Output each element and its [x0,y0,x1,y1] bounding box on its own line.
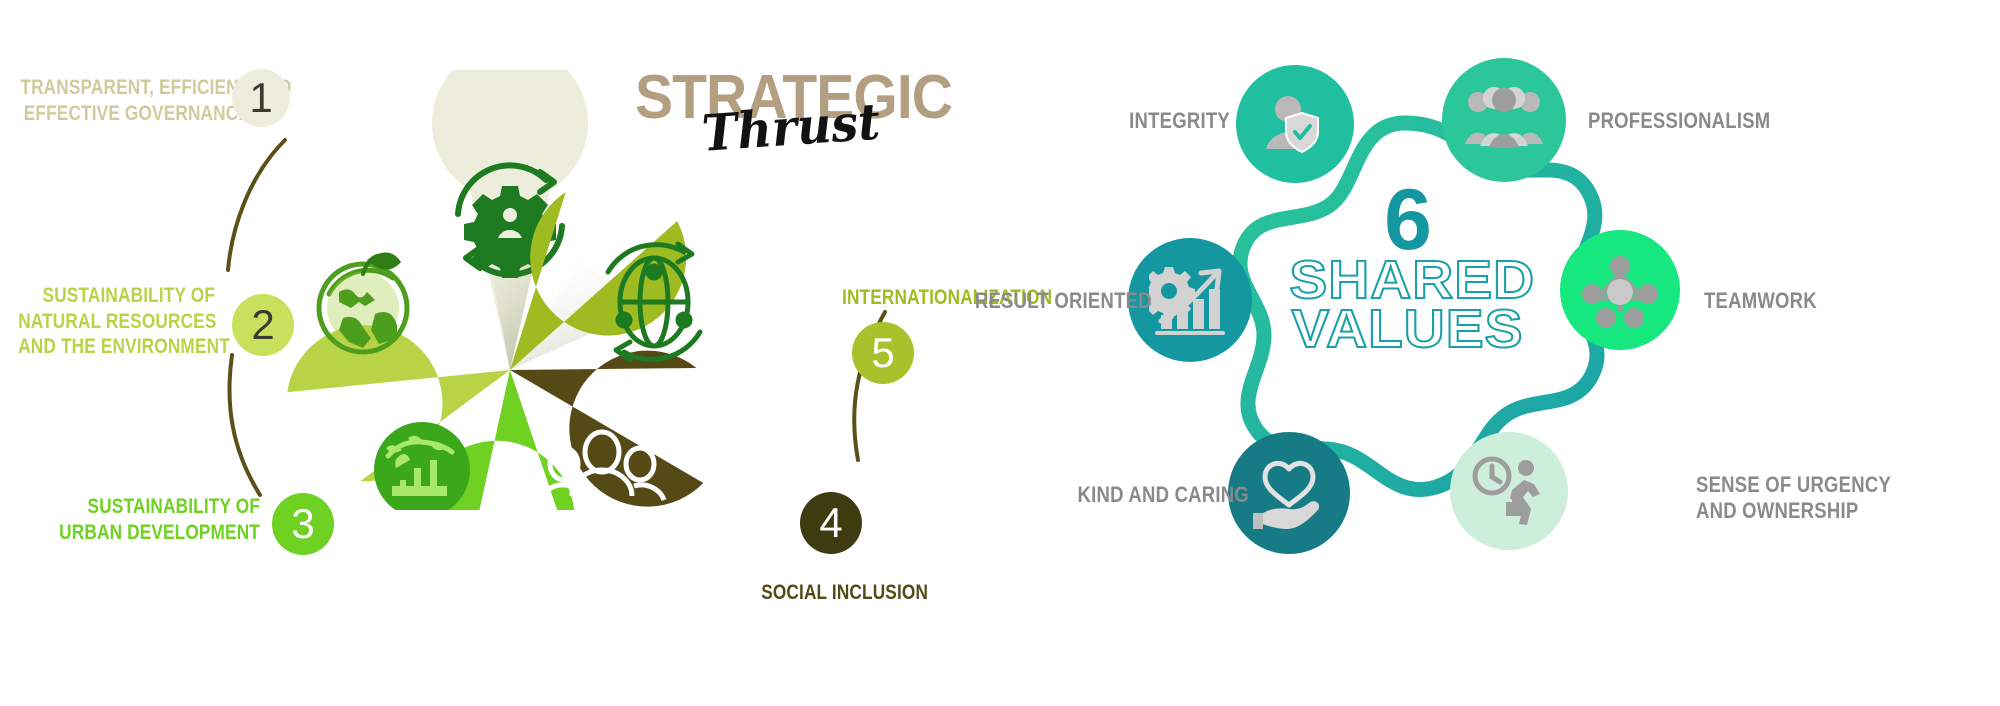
team-people-icon [1461,82,1547,158]
thrust-number-1[interactable]: 1 [232,69,290,127]
shared-values-panel: 6 SHARED VALUES INTEGRITY [1040,0,2000,706]
value-label-integrity: INTEGRITY [1087,108,1230,134]
thrust-label-1: TRANSPARENT, EFFICIENT AND EFFECTIVE GOV… [20,75,250,126]
hand-heart-icon [1249,455,1329,531]
person-shield-icon [1258,87,1332,161]
center-label-block: 6 SHARED VALUES [1295,185,1520,355]
globe-leaf-icon [319,252,407,352]
thrust-number-5[interactable]: 5 [852,322,914,384]
infographic-canvas: STRATEGIC Thrust [0,0,2000,706]
value-circle-sense-of-urgency[interactable] [1450,432,1568,550]
city-plant-icon [374,422,470,510]
network-nodes-icon [1582,252,1658,328]
growth-chart-gear-icon [1149,261,1231,339]
value-circle-integrity[interactable] [1236,65,1354,183]
thrust-number-4[interactable]: 4 [800,492,862,554]
value-circle-professionalism[interactable] [1442,58,1566,182]
strategic-petal-flower [250,70,770,510]
thrust-label-4: SOCIAL INCLUSION [761,580,909,606]
value-label-professionalism: PROFESSIONALISM [1588,108,1781,134]
thrust-label-3: SUSTAINABILITY OF URBAN DEVELOPMENT [55,494,260,545]
strategic-thrust-panel: STRATEGIC Thrust [0,0,1040,706]
center-line-shared: SHARED [1289,256,1525,306]
thrust-number-2[interactable]: 2 [232,294,294,356]
center-line-values: VALUES [1289,305,1525,355]
value-label-result-oriented: RESULT ORIENTED [975,288,1116,314]
thrust-label-2: SUSTAINABILITY OF NATURAL RESOURCES AND … [18,283,215,360]
value-label-sense-of-urgency: SENSE OF URGENCY AND OWNERSHIP [1696,472,1906,525]
value-label-kind-and-caring: KIND AND CARING [1078,482,1222,508]
page-title-thrust: Thrust [700,92,882,163]
thrust-number-3[interactable]: 3 [272,493,334,555]
clock-runner-icon [1470,454,1548,528]
value-circle-teamwork[interactable] [1560,230,1680,350]
value-label-teamwork: TEAMWORK [1704,288,1855,314]
center-count: 6 [1295,185,1520,256]
